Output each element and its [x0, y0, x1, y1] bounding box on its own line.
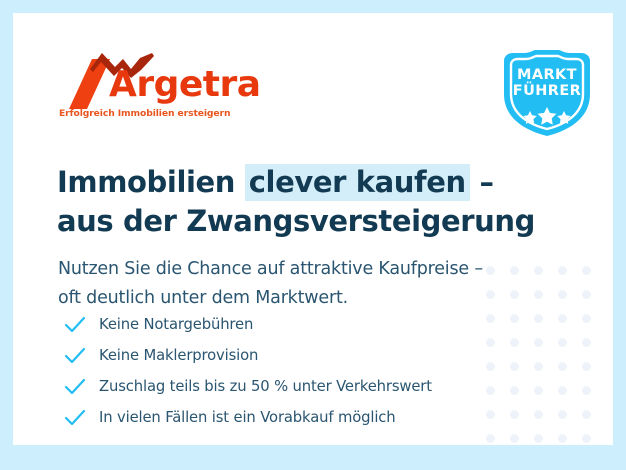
- check-icon: [63, 314, 87, 336]
- list-item: In vielen Fällen ist ein Vorabkauf mögli…: [63, 402, 533, 433]
- promo-card: Argetra Erfolgreich Immobilien ersteiger…: [13, 13, 613, 445]
- logo-wordmark: Argetra: [109, 67, 261, 103]
- promo-banner: Argetra Erfolgreich Immobilien ersteiger…: [0, 0, 626, 470]
- headline-line2: aus der Zwangsversteigerung: [57, 202, 577, 241]
- benefits-list: Keine Notargebühren Keine Maklerprovisio…: [63, 309, 533, 433]
- list-item-label: In vielen Fällen ist ein Vorabkauf mögli…: [99, 409, 396, 426]
- list-item-label: Keine Notargebühren: [99, 316, 253, 333]
- check-icon: [63, 407, 87, 429]
- list-item-label: Zuschlag teils bis zu 50 % unter Verkehr…: [99, 378, 432, 395]
- check-icon: [63, 345, 87, 367]
- check-icon: [63, 376, 87, 398]
- list-item: Zuschlag teils bis zu 50 % unter Verkehr…: [63, 371, 533, 402]
- list-item-label: Keine Maklerprovision: [99, 347, 258, 364]
- page-title: Immobilien clever kaufen – aus der Zwang…: [57, 163, 577, 241]
- list-item: Keine Notargebühren: [63, 309, 533, 340]
- logo-tagline: Erfolgreich Immobilien ersteigern: [59, 108, 230, 119]
- list-item: Keine Maklerprovision: [63, 340, 533, 371]
- subheading-line-1: Nutzen Sie die Chance auf attraktive Kau…: [58, 255, 558, 284]
- headline-line1-before: Immobilien: [57, 165, 245, 199]
- argetra-logo[interactable]: Argetra Erfolgreich Immobilien ersteiger…: [57, 53, 247, 128]
- status-badge: MARKT FÜHRER: [498, 49, 596, 137]
- headline-line1-after: –: [470, 165, 494, 199]
- shield-badge-icon: [498, 49, 596, 137]
- subheading: Nutzen Sie die Chance auf attraktive Kau…: [58, 255, 558, 313]
- headline-highlight: clever kaufen: [245, 164, 470, 201]
